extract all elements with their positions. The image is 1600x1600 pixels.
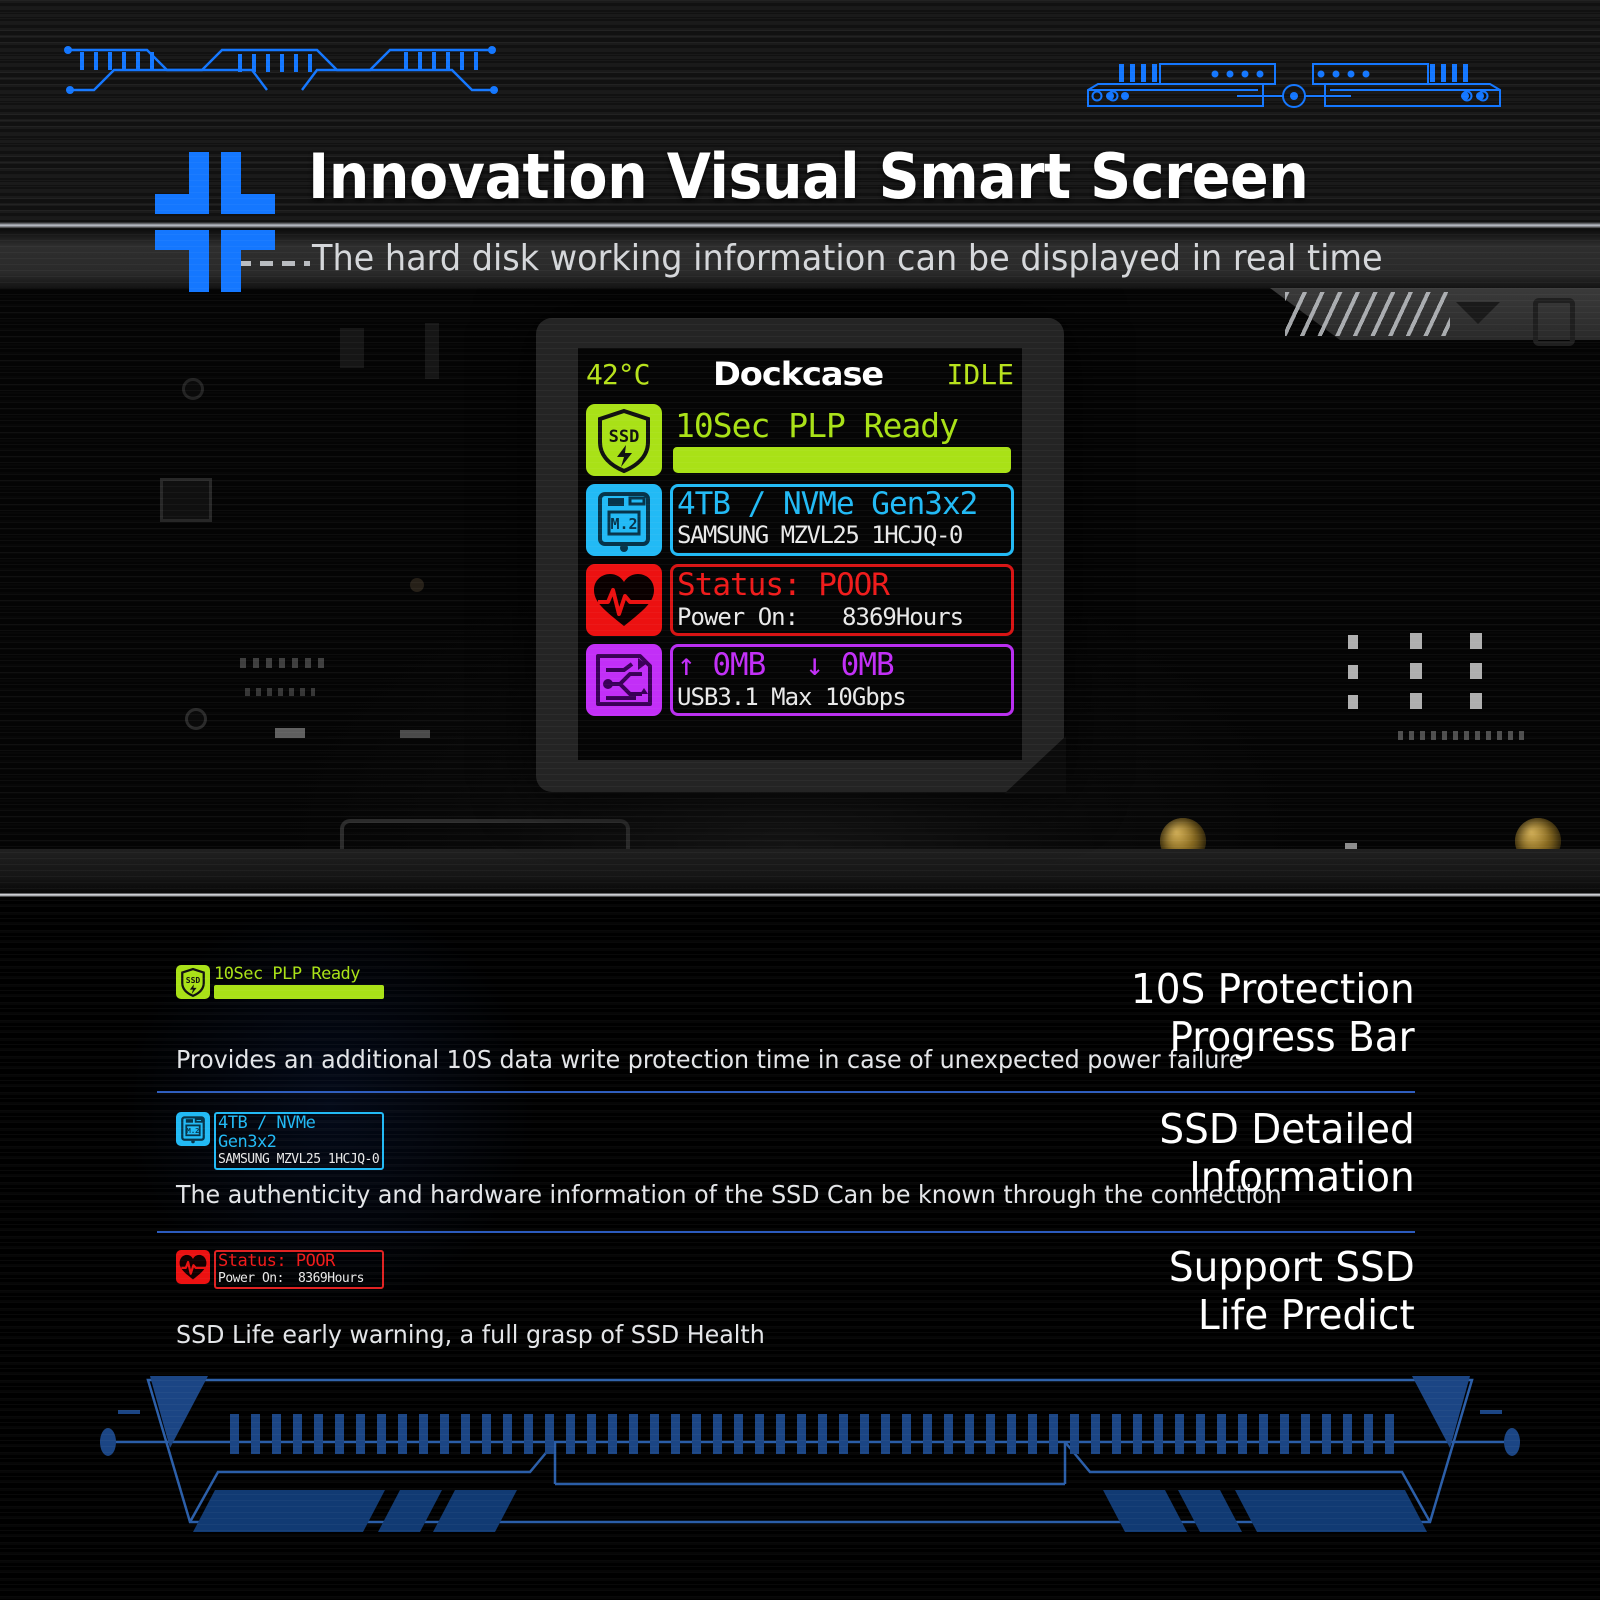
feature-description-health: SSD Life early warning, a full grasp of … <box>176 1320 765 1349</box>
lcd-power-on-value: 8369Hours <box>842 603 963 631</box>
feature-description-plp: Provides an additional 10S data write pr… <box>176 1045 1243 1074</box>
lcd-plp-title: 10Sec PLP Ready <box>673 407 1011 445</box>
band-separator-line <box>0 893 1600 897</box>
feature-label-health-line1: Support SSD <box>1169 1243 1415 1291</box>
usb-transfer-icon <box>586 644 662 716</box>
feature-description-ssd: The authenticity and hardware informatio… <box>176 1180 1282 1209</box>
board-led-15 <box>400 730 430 738</box>
board-pad-row <box>1398 731 1528 740</box>
lcd-health-body: Status: POOR Power On: 8369Hours <box>670 564 1014 636</box>
device-lcd-screen: 42°C Dockcase IDLE SSD 10Sec PLP Ready <box>578 348 1022 760</box>
feature-label-ssd-line1: SSD Detailed <box>1160 1105 1415 1153</box>
heart-health-icon <box>176 1250 210 1284</box>
lcd-usb-download: ↓ 0MB <box>805 647 893 683</box>
board-led-8 <box>1410 693 1422 709</box>
feature-label-ssd-line2: Information <box>1160 1153 1415 1201</box>
ssd-shield-icon: SSD <box>176 965 210 999</box>
lcd-usb-spec: USB3.1 Max 10Gbps <box>673 683 1011 711</box>
feature-badge-body-plp: 10Sec PLP Ready <box>214 965 384 999</box>
hud-decoration-footer <box>100 1372 1520 1557</box>
lcd-temperature: 42°C <box>586 358 649 391</box>
feature-label-health: Support SSD Life Predict <box>1169 1243 1415 1339</box>
lcd-plp-body: 10Sec PLP Ready <box>670 404 1014 476</box>
lcd-ssd-model: SAMSUNG MZVL25 1HCJQ-0 <box>673 521 1011 549</box>
lcd-status-bar: 42°C Dockcase IDLE <box>578 348 1022 396</box>
feature-badge-body-health: Status: POOR Power On: 8369Hours <box>214 1250 384 1289</box>
feature-label-plp-line2: Progress Bar <box>1131 1013 1415 1061</box>
lcd-row-usb: ↑ 0MB ↓ 0MB USB3.1 Max 10Gbps <box>578 644 1022 716</box>
feature-badge-subtitle-ssd: SAMSUNG MZVL25 1HCJQ-0 <box>218 1152 380 1168</box>
lcd-row-health: Status: POOR Power On: 8369Hours <box>578 564 1022 636</box>
board-via-2 <box>182 378 204 400</box>
svg-text:SSD: SSD <box>609 427 640 447</box>
page-title: Innovation Visual Smart Screen <box>308 140 1308 213</box>
feature-badge-title-ssd: 4TB / NVMe Gen3x2 <box>218 1114 380 1152</box>
board-via-3 <box>410 578 424 592</box>
board-led-4 <box>1348 665 1358 679</box>
lcd-ssd-capacity: 4TB / NVMe Gen3x2 <box>673 487 1011 521</box>
board-led-2 <box>1410 633 1422 649</box>
lcd-plp-progress-bar <box>673 447 1011 473</box>
feature-badge-ssd: M.2 4TB / NVMe Gen3x2 SAMSUNG MZVL25 1HC… <box>176 1112 384 1170</box>
heart-health-icon <box>586 564 662 636</box>
lcd-health-status: Status: POOR <box>673 567 1011 603</box>
board-pad-row-3 <box>245 688 315 696</box>
feature-badge-title-plp: 10Sec PLP Ready <box>214 965 384 984</box>
dockcase-cross-logo-icon <box>155 152 275 292</box>
photo-chip-outline <box>1533 298 1575 346</box>
svg-text:M.2: M.2 <box>610 515 637 533</box>
lcd-state-badge: IDLE <box>947 358 1014 391</box>
hud-decoration-top-left <box>52 44 512 119</box>
photo-triangle-marker-icon <box>1456 302 1500 324</box>
lcd-ssd-body: 4TB / NVMe Gen3x2 SAMSUNG MZVL25 1HCJQ-0 <box>670 484 1014 556</box>
board-component-3 <box>425 323 439 379</box>
board-led-6 <box>1470 663 1482 679</box>
product-photo-band: Dockcase Chi Zh 42°C Dockcase IDLE SSD 1… <box>0 288 1600 895</box>
feature-label-plp: 10S Protection Progress Bar <box>1131 965 1415 1061</box>
m2-ssd-icon: M.2 <box>586 484 662 556</box>
board-led-3 <box>1470 633 1482 649</box>
lcd-row-plp: SSD 10Sec PLP Ready <box>578 404 1022 476</box>
board-via-1 <box>185 708 207 730</box>
hud-decoration-top-right <box>1055 52 1525 119</box>
lcd-usb-upload: ↑ 0MB <box>677 647 765 683</box>
feature-divider-1 <box>157 1091 1415 1093</box>
feature-badge-power-on-label: Power On: <box>218 1271 284 1287</box>
page-subtitle: The hard disk working information can be… <box>312 238 1383 279</box>
feature-badge-title-health: Status: POOR <box>218 1252 380 1271</box>
lcd-usb-body: ↑ 0MB ↓ 0MB USB3.1 Max 10Gbps <box>670 644 1014 716</box>
feature-badge-health: Status: POOR Power On: 8369Hours <box>176 1250 384 1289</box>
feature-divider-2 <box>157 1231 1415 1233</box>
board-pad-row-2 <box>240 658 330 668</box>
lcd-power-on-row: Power On: 8369Hours <box>673 603 1011 631</box>
board-component-2 <box>340 328 364 368</box>
lcd-brand-logo: Dockcase <box>713 355 883 393</box>
board-led-9 <box>1470 693 1482 709</box>
board-led-7 <box>1348 695 1358 709</box>
lcd-power-on-label: Power On: <box>677 603 798 631</box>
feature-badge-body-ssd: 4TB / NVMe Gen3x2 SAMSUNG MZVL25 1HCJQ-0 <box>214 1112 384 1170</box>
board-component-1 <box>160 478 212 522</box>
feature-badge-power-on-health: Power On: 8369Hours <box>218 1271 380 1287</box>
photo-hatch-decoration <box>1285 292 1450 336</box>
feature-label-ssd: SSD Detailed Information <box>1160 1105 1415 1201</box>
board-led-5 <box>1410 663 1422 679</box>
feature-label-plp-line1: 10S Protection <box>1131 965 1415 1013</box>
svg-text:SSD: SSD <box>186 976 201 985</box>
board-led-14 <box>275 728 305 738</box>
svg-text:M.2: M.2 <box>187 1126 200 1135</box>
feature-badge-plp: SSD 10Sec PLP Ready <box>176 965 384 999</box>
photo-bottom-shroud <box>0 849 1600 895</box>
feature-badge-power-on-value: 8369Hours <box>298 1271 364 1287</box>
feature-label-health-line2: Life Predict <box>1169 1291 1415 1339</box>
board-led-1 <box>1348 635 1358 649</box>
ssd-shield-icon: SSD <box>586 404 662 476</box>
lcd-row-ssd-info: M.2 4TB / NVMe Gen3x2 SAMSUNG MZVL25 1HC… <box>578 484 1022 556</box>
feature-progress-bar-plp <box>214 985 384 999</box>
m2-ssd-icon: M.2 <box>176 1112 210 1146</box>
lcd-usb-speeds: ↑ 0MB ↓ 0MB <box>673 647 1011 683</box>
